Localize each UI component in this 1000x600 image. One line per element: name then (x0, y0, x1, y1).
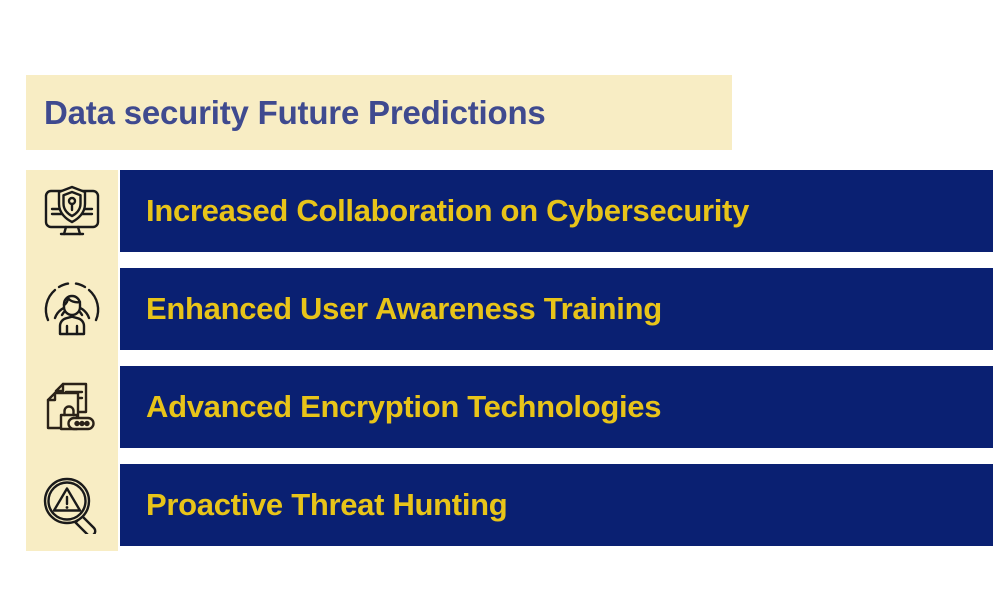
prediction-bar[interactable]: Proactive Threat Hunting (120, 464, 993, 546)
user-broadcast-awareness-icon (26, 268, 118, 350)
list-item-label: Enhanced User Awareness Training (120, 291, 662, 327)
monitor-shield-lock-icon (26, 170, 118, 252)
prediction-list: Increased Collaboration on Cybersecurity (0, 170, 1000, 551)
prediction-bar[interactable]: Increased Collaboration on Cybersecurity (120, 170, 993, 252)
prediction-bar[interactable]: Enhanced User Awareness Training (120, 268, 993, 350)
list-item[interactable]: Proactive Threat Hunting (0, 464, 1000, 546)
list-item-label: Proactive Threat Hunting (120, 487, 507, 523)
infographic-canvas: Data security Future Predictions (0, 0, 1000, 600)
list-item-label: Increased Collaboration on Cybersecurity (120, 193, 749, 229)
list-item-label: Advanced Encryption Technologies (120, 389, 661, 425)
magnifier-warning-triangle-icon (26, 464, 118, 546)
list-item[interactable]: Increased Collaboration on Cybersecurity (0, 170, 1000, 252)
page-title: Data security Future Predictions (26, 94, 546, 132)
prediction-bar[interactable]: Advanced Encryption Technologies (120, 366, 993, 448)
list-item[interactable]: Enhanced User Awareness Training (0, 268, 1000, 350)
documents-padlock-password-icon (26, 366, 118, 448)
title-band: Data security Future Predictions (26, 75, 732, 150)
list-item[interactable]: Advanced Encryption Technologies (0, 366, 1000, 448)
